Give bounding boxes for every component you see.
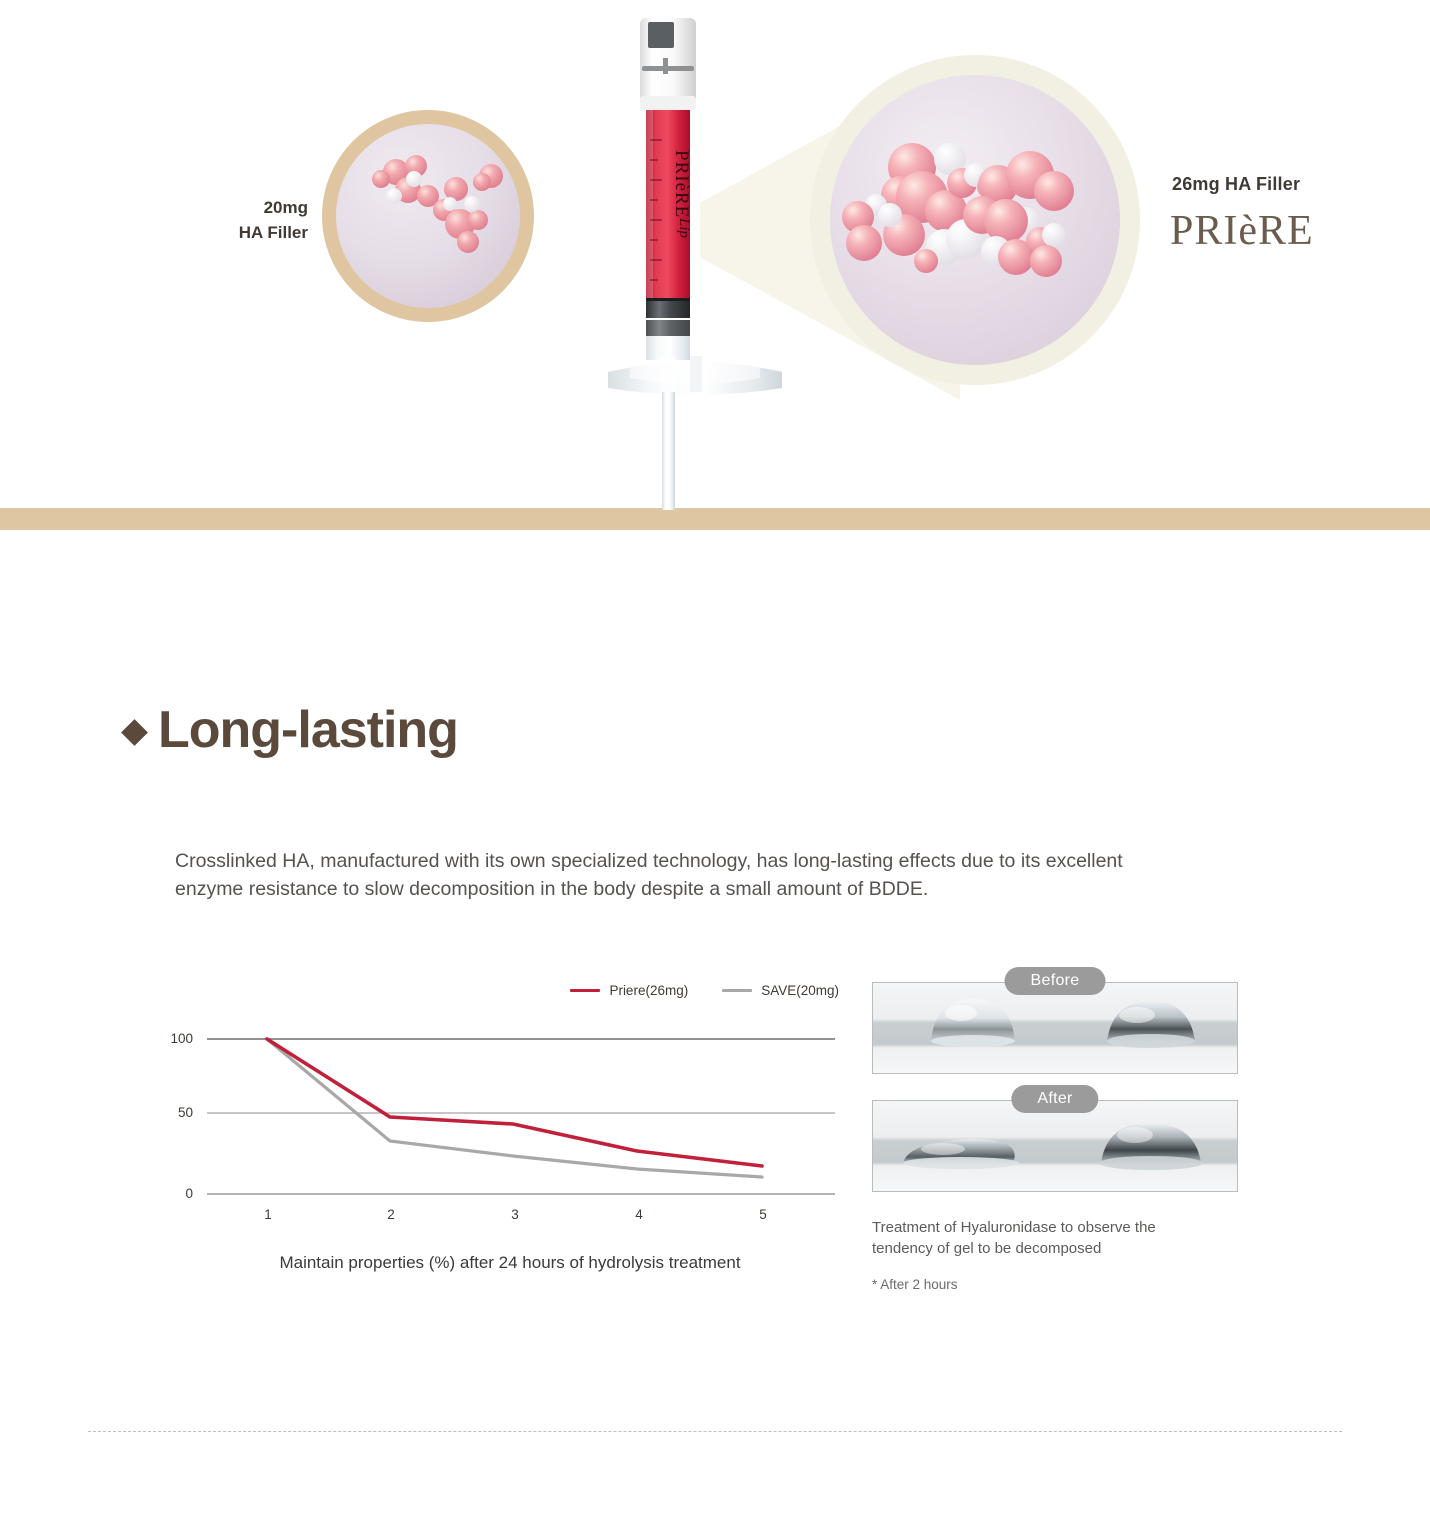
- chart-xtick-5: 5: [752, 1207, 774, 1222]
- syringe-illustration: PRIèRE Lip: [600, 0, 790, 510]
- chart-xtick-4: 4: [628, 1207, 650, 1222]
- legend-label-priere: Priere(26mg): [609, 983, 688, 998]
- legend-item-save: SAVE(20mg): [722, 983, 839, 998]
- ha-filler-26mg-circle-inner: [830, 75, 1120, 365]
- brand-logo: PRIèRE: [1170, 210, 1314, 252]
- chart-xtick-2: 2: [380, 1207, 402, 1222]
- hero-section: 20mg HA Filler: [0, 0, 1430, 508]
- ha-filler-26mg-circle: [810, 55, 1140, 385]
- gel-comparison: Before: [872, 982, 1238, 1292]
- svg-text:PRIèRE: PRIèRE: [671, 150, 692, 218]
- gel-drops-after-icon: [873, 1101, 1237, 1191]
- gel-panel-before-label: Before: [1005, 967, 1106, 995]
- legend-swatch-priere: [570, 989, 600, 993]
- ha-filler-20mg-circle: [322, 110, 534, 322]
- gel-panel-before: Before: [872, 982, 1238, 1074]
- page-title: Long-lasting: [125, 700, 458, 760]
- gel-panel-after-label: After: [1011, 1085, 1098, 1113]
- brand-logo-text: PRIèRE: [1170, 208, 1314, 254]
- gel-caption: Treatment of Hyaluronidase to observe th…: [872, 1218, 1202, 1259]
- chart-xtick-1: 1: [257, 1207, 279, 1222]
- section-body-text: Crosslinked HA, manufactured with its ow…: [175, 848, 1185, 903]
- bottom-dashed-divider: [88, 1431, 1342, 1432]
- gel-panel-after: After: [872, 1100, 1238, 1192]
- right-filler-label: 26mg HA Filler: [1172, 174, 1300, 195]
- diamond-icon: [121, 719, 148, 746]
- svg-text:Lip: Lip: [676, 217, 692, 239]
- chart-legend: Priere(26mg) SAVE(20mg): [570, 983, 839, 998]
- legend-swatch-save: [722, 989, 752, 992]
- hydrolysis-chart: Priere(26mg) SAVE(20mg) 100 50 0 1 2 3 4…: [175, 975, 845, 1285]
- gel-note: * After 2 hours: [872, 1277, 1238, 1292]
- ha-filler-20mg-circle-inner: [336, 124, 520, 308]
- left-filler-label-line1: 20mg: [218, 196, 308, 221]
- chart-caption: Maintain properties (%) after 24 hours o…: [175, 1253, 845, 1273]
- ha-particles-sparse-icon: [336, 124, 520, 308]
- legend-label-save: SAVE(20mg): [761, 983, 839, 998]
- legend-item-priere: Priere(26mg): [570, 983, 688, 998]
- left-filler-label: 20mg HA Filler: [218, 196, 308, 245]
- left-filler-label-line2: HA Filler: [218, 221, 308, 246]
- section-divider-band: [0, 508, 1430, 530]
- gel-drops-before-icon: [873, 983, 1237, 1073]
- chart-xtick-3: 3: [504, 1207, 526, 1222]
- ha-particles-dense-icon: [830, 75, 1120, 365]
- page-title-text: Long-lasting: [158, 700, 458, 760]
